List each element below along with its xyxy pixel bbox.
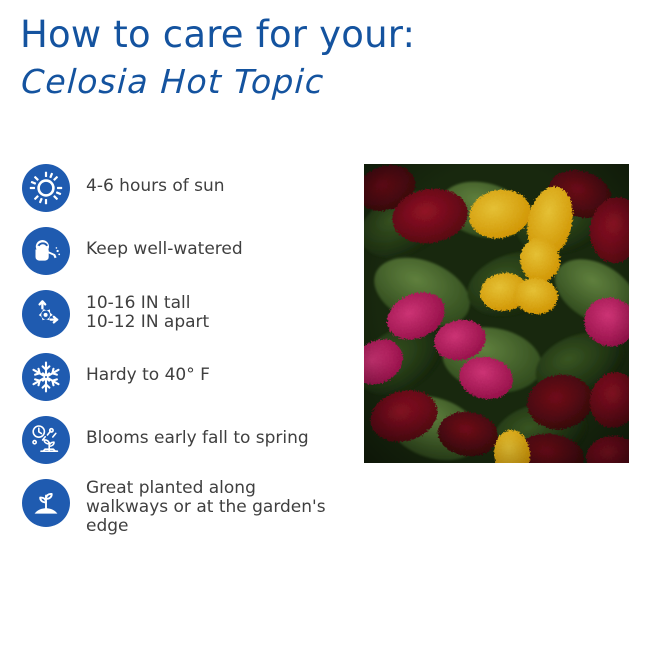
care-text-watering: Keep well-watered xyxy=(86,227,243,259)
card-title-block: How to care for your: Celosia Hot Topic xyxy=(20,12,620,104)
watering-can-icon xyxy=(22,227,70,275)
care-text-size-spacing: 10-16 IN tall 10-12 IN apart xyxy=(86,290,209,332)
care-row-hardiness: Hardy to 40° F xyxy=(22,353,352,401)
care-row-sunlight: 4-6 hours of sun xyxy=(22,164,352,212)
care-row-watering: Keep well-watered xyxy=(22,227,352,275)
bloom-season-icon xyxy=(22,416,70,464)
care-text-placement: Great planted along walkways or at the g… xyxy=(86,479,326,536)
care-text-bloom-season: Blooms early fall to spring xyxy=(86,416,309,448)
page-title-plant-name: Celosia Hot Topic xyxy=(20,60,622,104)
sun-icon xyxy=(22,164,70,212)
care-text-hardiness: Hardy to 40° F xyxy=(86,353,210,385)
care-row-size-spacing: 10-16 IN tall 10-12 IN apart xyxy=(22,290,352,338)
care-row-bloom-season: Blooms early fall to spring xyxy=(22,416,352,464)
plant-photo xyxy=(364,164,629,463)
care-instruction-list: 4-6 hours of sun Keep xyxy=(22,164,352,536)
plant-size-spacing-icon xyxy=(22,290,70,338)
care-text-sunlight: 4-6 hours of sun xyxy=(86,164,225,196)
snowflake-icon xyxy=(22,353,70,401)
plant-care-card: How to care for your: Celosia Hot Topic xyxy=(0,0,651,651)
seedling-icon xyxy=(22,479,70,527)
page-title-line-1: How to care for your: xyxy=(20,12,620,58)
care-row-placement: Great planted along walkways or at the g… xyxy=(22,479,352,536)
